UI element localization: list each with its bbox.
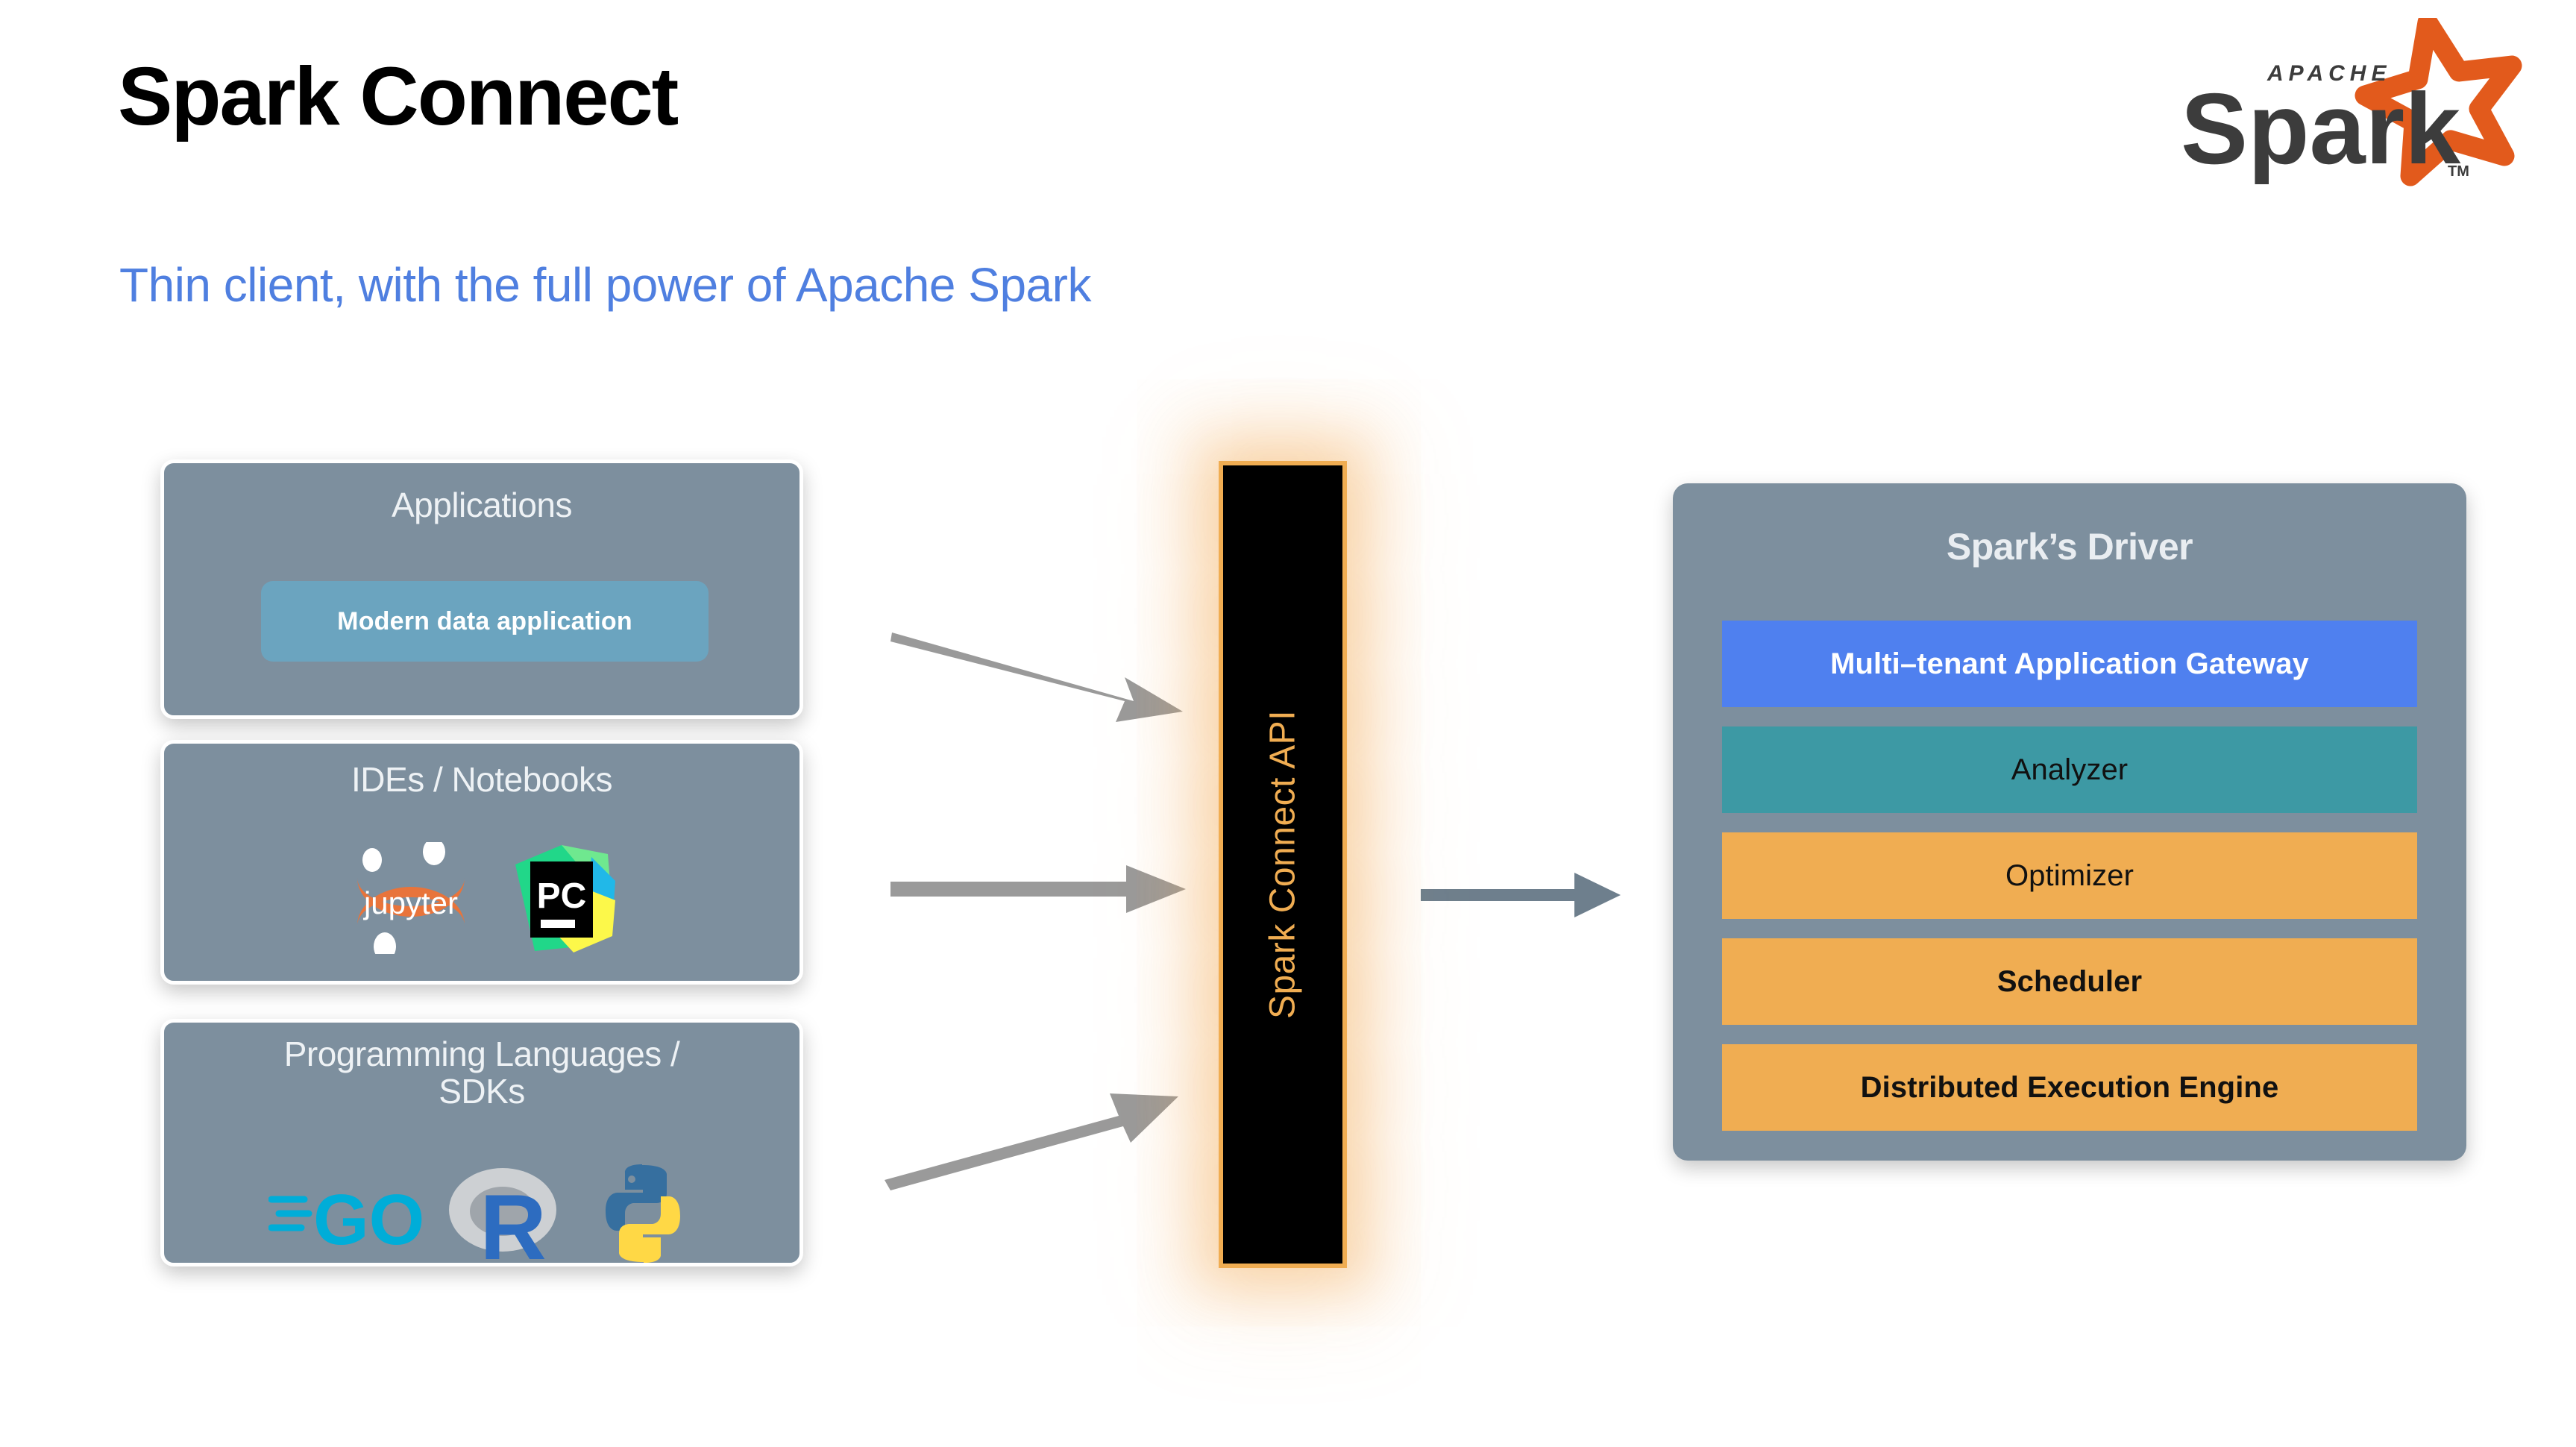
driver-row-gateway[interactable]: Multi–tenant Application Gateway <box>1722 621 2417 707</box>
spark-connect-api-bar[interactable]: Spark Connect API <box>1219 461 1347 1268</box>
driver-row-optimizer[interactable]: Optimizer <box>1722 832 2417 919</box>
languages-title-line1: Programming Languages / <box>284 1035 680 1073</box>
driver-row-analyzer-label: Analyzer <box>2011 753 2128 787</box>
pycharm-underscore-icon <box>541 920 575 928</box>
go-speed-lines-icon <box>271 1199 309 1228</box>
driver-component-stack: Multi–tenant Application Gateway Analyze… <box>1722 621 2417 1131</box>
arrow-languages-to-api <box>880 1044 1201 1193</box>
driver-row-gateway-label: Multi–tenant Application Gateway <box>1830 647 2309 681</box>
languages-title-line2: SDKs <box>439 1072 525 1111</box>
driver-row-scheduler[interactable]: Scheduler <box>1722 938 2417 1025</box>
python-bottom-snake-icon <box>619 1196 680 1263</box>
pycharm-wordmark: PC <box>537 876 587 916</box>
page-subtitle: Thin client, with the full power of Apac… <box>119 261 1091 309</box>
r-language-logo: R <box>444 1164 571 1264</box>
jupyter-dot-bottom <box>374 932 396 954</box>
page-title: Spark Connect <box>118 56 677 138</box>
spark-driver-title: Spark’s Driver <box>1673 527 2466 567</box>
python-top-snake-icon <box>606 1164 667 1231</box>
logo-spark-text: Spark <box>2181 72 2461 185</box>
language-logo-row: GO R <box>164 1161 799 1266</box>
jupyter-dot-top-right <box>423 842 445 865</box>
driver-row-execution-engine[interactable]: Distributed Execution Engine <box>1722 1044 2417 1131</box>
ides-title: IDEs / Notebooks <box>164 762 799 799</box>
spark-connect-api-label: Spark Connect API <box>1263 710 1304 1019</box>
logo-trademark-text: TM <box>2448 163 2469 180</box>
arrow-ides-to-api <box>888 843 1201 932</box>
applications-title: Applications <box>164 487 799 524</box>
driver-row-optimizer-label: Optimizer <box>2005 859 2134 893</box>
client-box-applications[interactable]: Applications Modern data application <box>160 459 803 719</box>
client-box-programming-languages[interactable]: Programming Languages / SDKs GO R <box>160 1019 803 1266</box>
driver-row-analyzer[interactable]: Analyzer <box>1722 726 2417 813</box>
driver-row-scheduler-label: Scheduler <box>1997 965 2142 999</box>
arrow-api-to-driver <box>1421 858 1637 932</box>
jupyter-logo: jupyter <box>342 842 484 954</box>
go-logo: GO <box>268 1173 425 1255</box>
jupyter-dot-top-left <box>362 848 382 872</box>
languages-title: Programming Languages / SDKs <box>164 1036 799 1110</box>
pycharm-logo: PC <box>509 842 621 954</box>
spark-driver-panel[interactable]: Spark’s Driver Multi–tenant Application … <box>1673 483 2466 1161</box>
apache-spark-logo: APACHE Spark TM <box>2181 18 2524 204</box>
arrow-applications-to-api <box>888 612 1201 731</box>
chip-modern-data-application[interactable]: Modern data application <box>261 581 709 662</box>
r-letter: R <box>480 1176 547 1264</box>
python-logo <box>591 1161 695 1266</box>
driver-row-execution-engine-label: Distributed Execution Engine <box>1861 1071 2279 1105</box>
ide-logo-row: jupyter PC <box>164 842 799 954</box>
jupyter-wordmark: jupyter <box>362 885 458 920</box>
go-wordmark: GO <box>313 1180 424 1255</box>
client-box-ides-notebooks[interactable]: IDEs / Notebooks jupyter PC <box>160 740 803 985</box>
